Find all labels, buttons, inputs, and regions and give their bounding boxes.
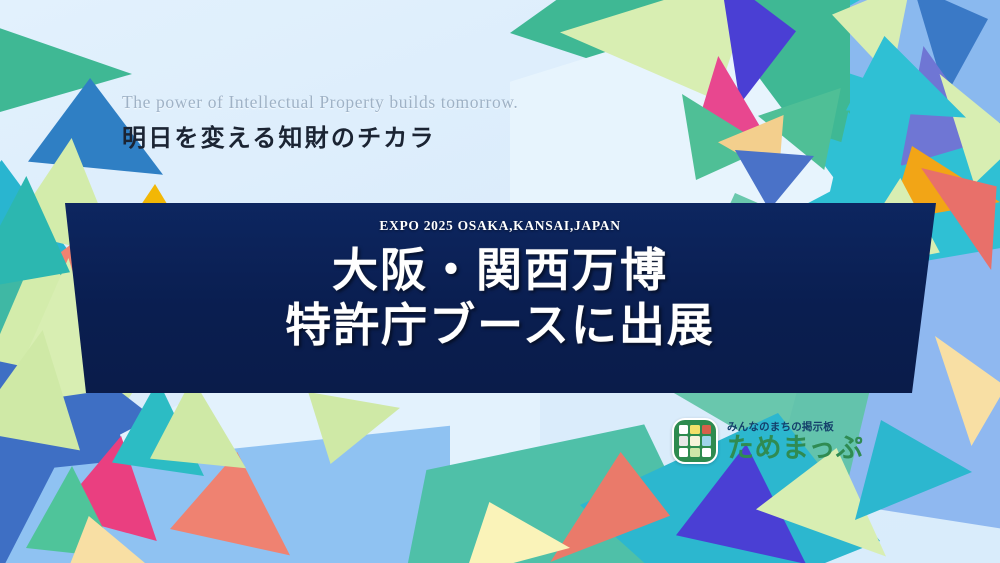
- tamemap-app-icon[interactable]: [672, 418, 718, 464]
- expo-kicker: EXPO 2025 OSAKA,KANSAI,JAPAN: [379, 218, 620, 234]
- poster-canvas: The power of Intellectual Property build…: [0, 0, 1000, 563]
- logo-text-block: みんなのまちの掲示板 ためまっぷ: [727, 419, 863, 463]
- logo-icon-tile-1: [690, 425, 699, 434]
- logo-icon-tile-7: [690, 448, 699, 457]
- tagline-english: The power of Intellectual Property build…: [122, 92, 518, 113]
- logo-icon-tile-3: [679, 436, 688, 445]
- logo-icon-tile-5: [702, 436, 711, 445]
- tagline-japanese: 明日を変える知財のチカラ: [122, 118, 518, 153]
- headline-line-2: 特許庁ブースに出展: [285, 297, 715, 354]
- logo-icon-tile-6: [679, 448, 688, 457]
- tagline-block: The power of Intellectual Property build…: [122, 92, 518, 153]
- logo-subtitle: みんなのまちの掲示板: [727, 419, 863, 434]
- navy-banner: EXPO 2025 OSAKA,KANSAI,JAPAN 大阪・関西万博 特許庁…: [0, 203, 1000, 393]
- logo-icon-tile-4: [690, 436, 699, 445]
- headline-line-1: 大阪・関西万博: [332, 242, 668, 299]
- logo-icon-tile-2: [702, 425, 711, 434]
- banner-content: EXPO 2025 OSAKA,KANSAI,JAPAN 大阪・関西万博 特許庁…: [0, 203, 1000, 393]
- logo-wordmark: ためまっぷ: [727, 435, 863, 463]
- logo-icon-tile-8: [702, 448, 711, 457]
- logo-icon-tile-0: [679, 425, 688, 434]
- tamemap-logo[interactable]: みんなのまちの掲示板 ためまっぷ: [672, 418, 863, 464]
